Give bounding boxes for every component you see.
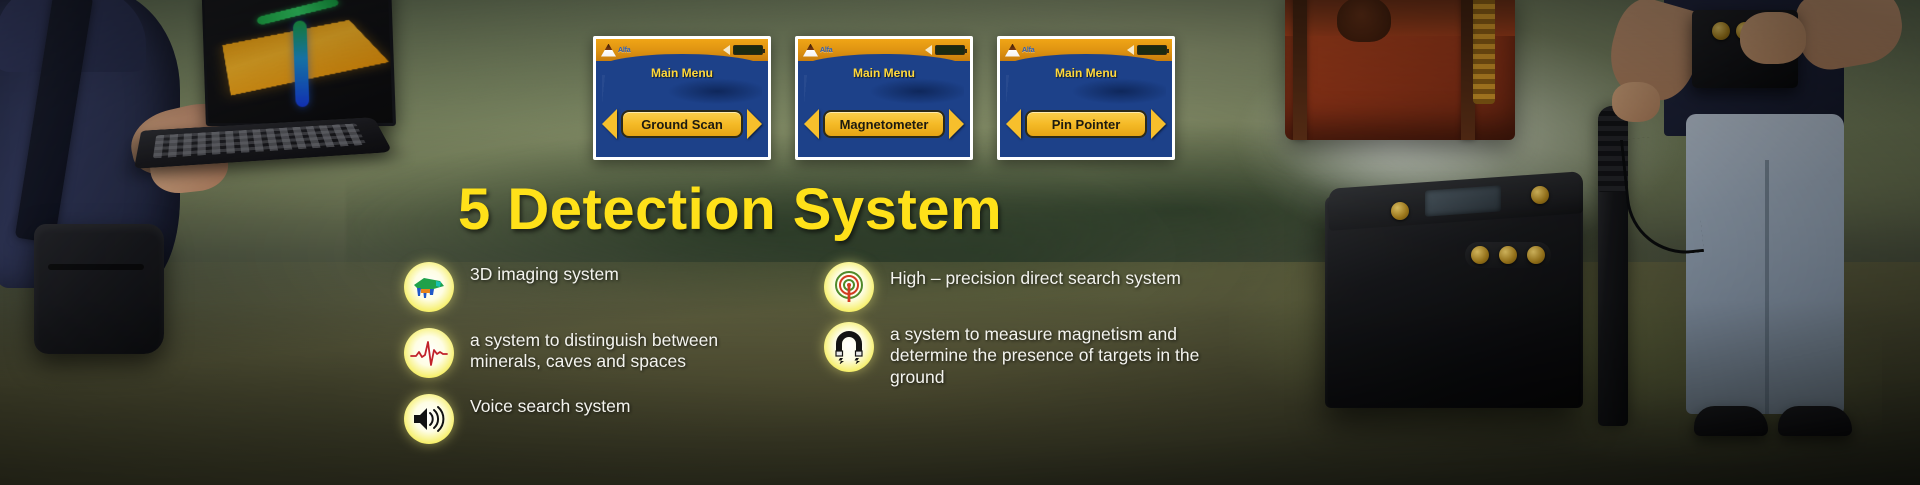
page-title: 5 Detection System bbox=[458, 176, 1002, 243]
panel-status-indicators bbox=[1127, 45, 1167, 55]
panel-mode-button[interactable]: Pin Pointer bbox=[1025, 110, 1147, 138]
list-item: High – precision direct search system bbox=[824, 262, 1244, 312]
arrow-right-icon[interactable] bbox=[1151, 109, 1166, 139]
arrow-left-icon[interactable] bbox=[602, 109, 617, 139]
waveform-icon bbox=[404, 328, 454, 378]
mountain-logo-icon bbox=[1005, 44, 1020, 57]
feature-list-left: 3D imaging system a system to distinguis… bbox=[404, 262, 784, 458]
device-panel-magnetometer[interactable]: Alfa Main Menu Magnetometer bbox=[795, 36, 973, 160]
volume-icon bbox=[723, 45, 730, 55]
list-item-label: Voice search system bbox=[470, 394, 630, 417]
panel-brand-logo: Alfa bbox=[803, 44, 832, 57]
device-panel-pin-pointer[interactable]: Alfa Main Menu Pin Pointer bbox=[997, 36, 1175, 160]
panel-status-bar: Alfa bbox=[1000, 39, 1172, 61]
panel-brand-logo: Alfa bbox=[601, 44, 630, 57]
arrow-right-icon[interactable] bbox=[949, 109, 964, 139]
list-item: 3D imaging system bbox=[404, 262, 784, 312]
battery-icon bbox=[1137, 45, 1167, 55]
speaker-icon bbox=[404, 394, 454, 444]
arrow-left-icon[interactable] bbox=[804, 109, 819, 139]
feature-list-right: High – precision direct search system a … bbox=[824, 262, 1244, 402]
list-item-label: High – precision direct search system bbox=[890, 266, 1181, 289]
panel-status-indicators bbox=[925, 45, 965, 55]
list-item: Voice search system bbox=[404, 394, 784, 444]
list-item-label: a system to distinguish between minerals… bbox=[470, 328, 784, 373]
panel-mode-selector: Pin Pointer bbox=[1000, 109, 1172, 139]
magnet-icon bbox=[824, 322, 874, 372]
3d-imaging-icon bbox=[404, 262, 454, 312]
panel-brand-logo: Alfa bbox=[1005, 44, 1034, 57]
panel-logo-text: Alfa bbox=[618, 47, 630, 54]
panel-mode-button[interactable]: Ground Scan bbox=[621, 110, 743, 138]
panel-status-indicators bbox=[723, 45, 763, 55]
volume-icon bbox=[1127, 45, 1134, 55]
panel-status-bar: Alfa bbox=[798, 39, 970, 61]
mountain-logo-icon bbox=[601, 44, 616, 57]
list-item-label: a system to measure magnetism and determ… bbox=[890, 322, 1244, 388]
panel-header-title: Main Menu bbox=[596, 66, 768, 80]
panel-header-title: Main Menu bbox=[798, 66, 970, 80]
panel-mode-button[interactable]: Magnetometer bbox=[823, 110, 945, 138]
mountain-logo-icon bbox=[803, 44, 818, 57]
panel-mode-selector: Ground Scan bbox=[596, 109, 768, 139]
arrow-left-icon[interactable] bbox=[1006, 109, 1021, 139]
target-antenna-icon bbox=[824, 262, 874, 312]
panel-logo-text: Alfa bbox=[1022, 47, 1034, 54]
arrow-right-icon[interactable] bbox=[747, 109, 762, 139]
panel-logo-text: Alfa bbox=[820, 47, 832, 54]
battery-icon bbox=[935, 45, 965, 55]
volume-icon bbox=[925, 45, 932, 55]
list-item: a system to measure magnetism and determ… bbox=[824, 322, 1244, 388]
panel-status-bar: Alfa bbox=[596, 39, 768, 61]
panel-header-title: Main Menu bbox=[1000, 66, 1172, 80]
panel-mode-selector: Magnetometer bbox=[798, 109, 970, 139]
list-item: a system to distinguish between minerals… bbox=[404, 328, 784, 378]
detector-promo-banner: Alfa Main Menu Ground Scan Alfa bbox=[0, 0, 1920, 485]
battery-icon bbox=[733, 45, 763, 55]
list-item-label: 3D imaging system bbox=[470, 262, 619, 285]
device-panel-ground-scan[interactable]: Alfa Main Menu Ground Scan bbox=[593, 36, 771, 160]
device-menu-panels: Alfa Main Menu Ground Scan Alfa bbox=[593, 36, 1175, 160]
